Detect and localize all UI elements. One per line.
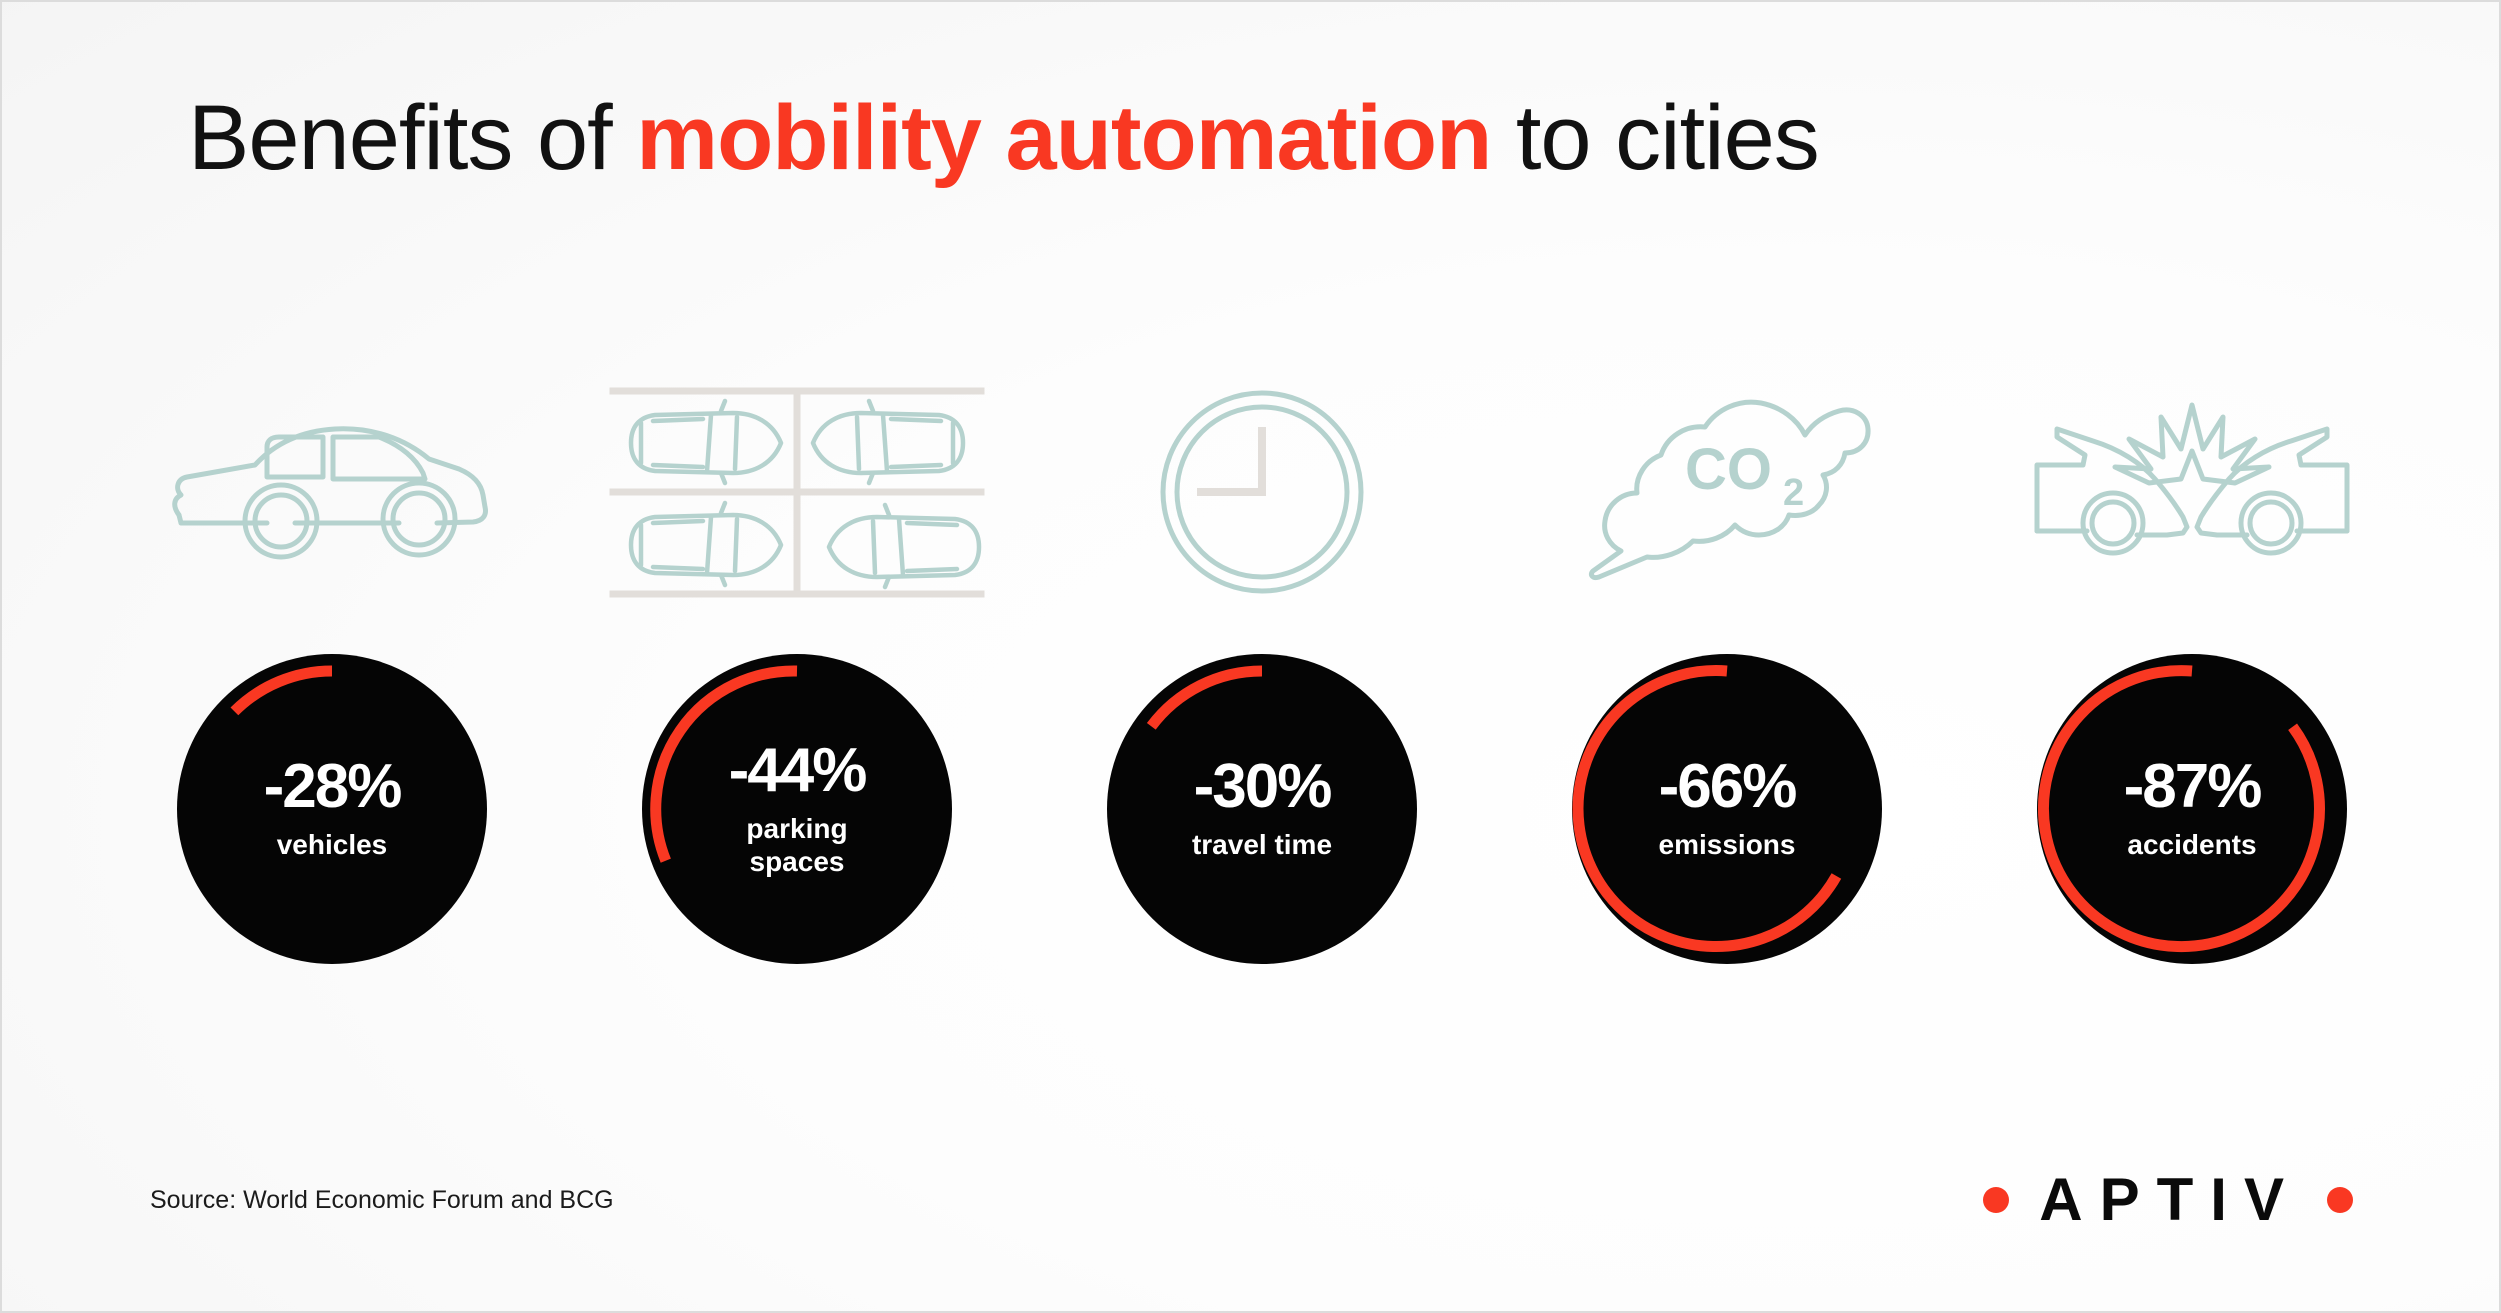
- infographic-canvas: Benefits of mobility automation to citie…: [0, 0, 2501, 1313]
- aptiv-logo: APTIV: [1983, 1170, 2353, 1230]
- metric-column-vehicles: -28% vehicles: [112, 362, 552, 964]
- donut-svg-accidents: [2037, 654, 2347, 964]
- logo-wordmark: APTIV: [2035, 1170, 2301, 1230]
- title-part-before: Benefits of: [188, 87, 636, 189]
- title-part-after: to cities: [1491, 87, 1818, 189]
- metric-column-accidents: -87% accidents: [1972, 362, 2412, 964]
- donut-gauge-parking-spaces: -44% parking spaces: [642, 654, 952, 964]
- metric-column-travel-time: -30% travel time: [1042, 362, 1482, 964]
- title-part-accent: mobility automation: [636, 87, 1491, 189]
- page-title: Benefits of mobility automation to citie…: [188, 90, 1819, 187]
- donut-gauge-travel-time: -30% travel time: [1107, 654, 1417, 964]
- donut-gauge-vehicles: -28% vehicles: [177, 654, 487, 964]
- source-attribution: Source: World Economic Forum and BCG: [150, 1186, 614, 1215]
- co2-cloud-icon: CO 2: [1507, 362, 1947, 622]
- donut-svg-vehicles: [177, 654, 487, 964]
- donut-svg-emissions: [1572, 654, 1882, 964]
- car-crash-icon: [1972, 362, 2412, 622]
- donut-gauge-emissions: -66% emissions: [1572, 654, 1882, 964]
- car-side-icon: [112, 362, 552, 622]
- co2-subscript: 2: [1783, 472, 1804, 514]
- donut-gauge-accidents: -87% accidents: [2037, 654, 2347, 964]
- donut-svg-travel-time: [1107, 654, 1417, 964]
- metrics-row: -28% vehicles: [112, 362, 2412, 1002]
- metric-column-emissions: CO 2 -66% emissions: [1507, 362, 1947, 964]
- logo-dot-left-icon: [1983, 1187, 2009, 1213]
- clock-icon: [1042, 362, 1482, 622]
- co2-label: CO: [1685, 437, 1772, 502]
- donut-svg-parking-spaces: [642, 654, 952, 964]
- parking-lot-icon: [577, 362, 1017, 622]
- metric-column-parking-spaces: -44% parking spaces: [577, 362, 1017, 964]
- logo-dot-right-icon: [2327, 1187, 2353, 1213]
